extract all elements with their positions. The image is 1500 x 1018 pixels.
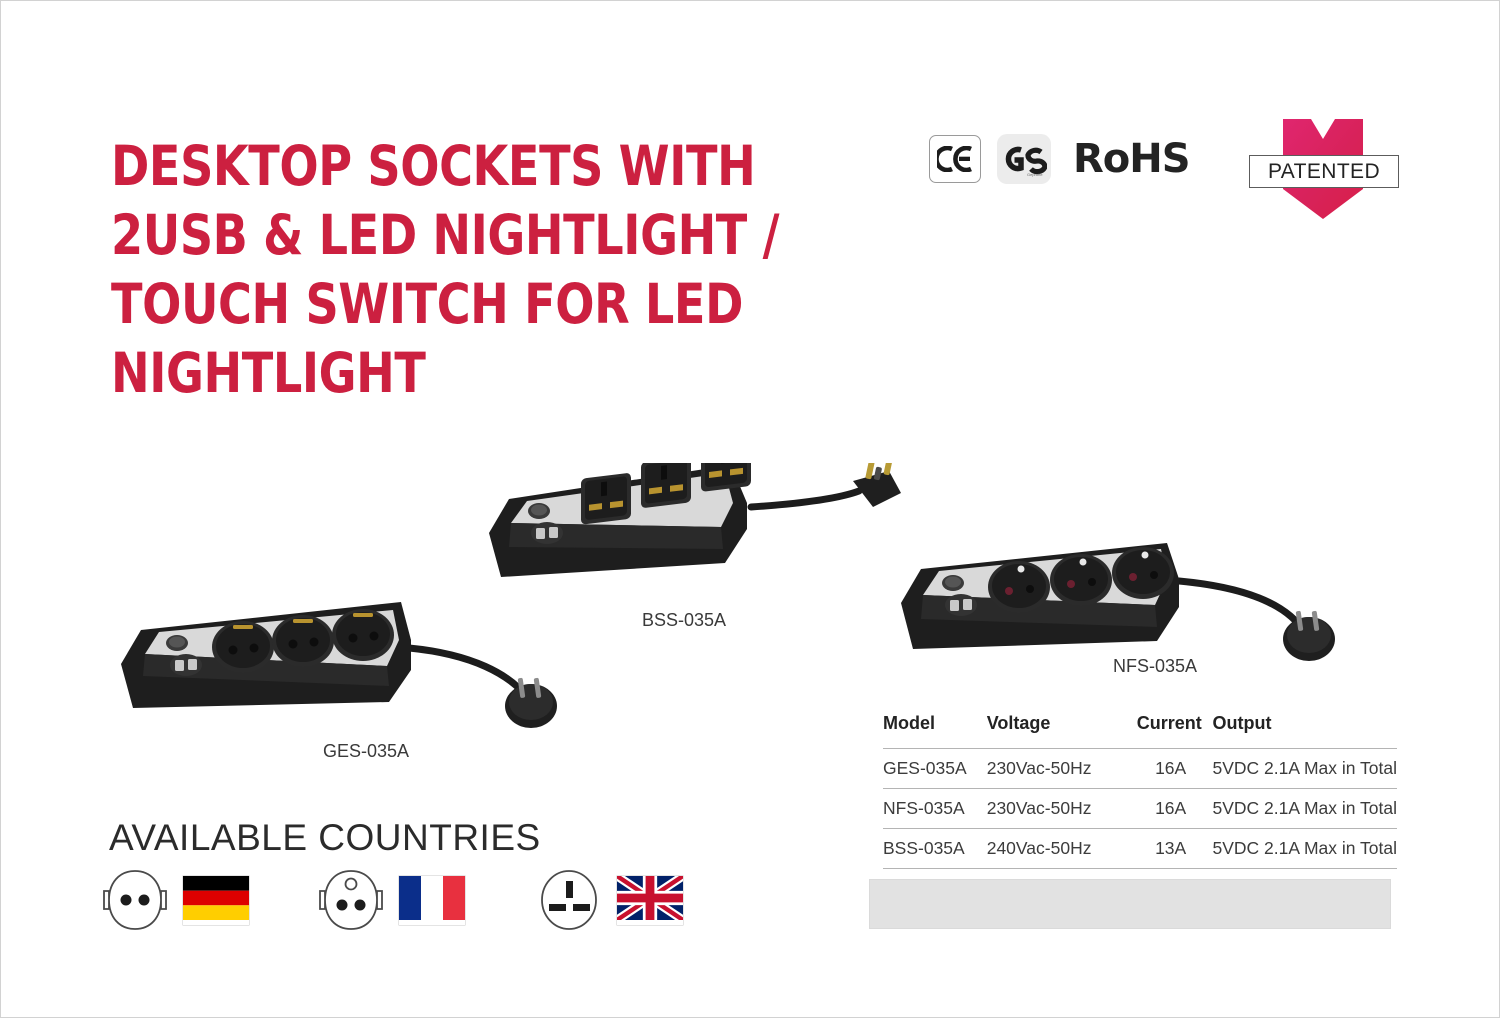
ce-glyph bbox=[937, 146, 973, 172]
patented-badge: PATENTED bbox=[1249, 115, 1409, 223]
product-label-bss: BSS-035A bbox=[642, 610, 726, 631]
notes-bar bbox=[869, 879, 1391, 929]
rohs-label: RoHS bbox=[1073, 136, 1190, 182]
uk-socket-icon bbox=[535, 867, 603, 933]
table-header-row: Model Voltage Current Output bbox=[883, 713, 1397, 749]
patented-label: PATENTED bbox=[1249, 155, 1399, 188]
cell-model: GES-035A bbox=[883, 749, 987, 789]
country-item-uk bbox=[535, 867, 683, 933]
cell-voltage: 230Vac-50Hz bbox=[987, 789, 1129, 829]
french-socket-icon bbox=[317, 867, 385, 933]
col-current: Current bbox=[1129, 713, 1213, 749]
col-voltage: Voltage bbox=[987, 713, 1129, 749]
certification-badges: Geprufte RoHS bbox=[929, 134, 1190, 184]
table-row: BSS-035A 240Vac-50Hz 13A 5VDC 2.1A Max i… bbox=[883, 829, 1397, 869]
col-model: Model bbox=[883, 713, 987, 749]
gs-icon: Geprufte bbox=[997, 134, 1051, 184]
col-output: Output bbox=[1213, 713, 1398, 749]
product-label-nfs: NFS-035A bbox=[1113, 656, 1197, 677]
cell-current: 16A bbox=[1129, 789, 1213, 829]
page-title: DESKTOP SOCKETS WITH 2USB & LED NIGHTLIG… bbox=[111, 132, 808, 408]
cell-voltage: 240Vac-50Hz bbox=[987, 829, 1129, 869]
specification-table: Model Voltage Current Output GES-035A 23… bbox=[883, 713, 1397, 869]
cell-voltage: 230Vac-50Hz bbox=[987, 749, 1129, 789]
ges-socket-strip bbox=[111, 596, 571, 741]
available-countries-heading: AVAILABLE COUNTRIES bbox=[109, 817, 541, 859]
cell-current: 13A bbox=[1129, 829, 1213, 869]
schuko-socket-icon bbox=[101, 867, 169, 933]
cell-output: 5VDC 2.1A Max in Total bbox=[1213, 749, 1398, 789]
product-image-nfs: NFS-035A bbox=[891, 541, 1361, 686]
cell-model: NFS-035A bbox=[883, 789, 987, 829]
france-flag bbox=[399, 876, 465, 925]
cell-output: 5VDC 2.1A Max in Total bbox=[1213, 829, 1398, 869]
product-image-bss: BSS-035A bbox=[481, 463, 941, 603]
available-countries-list bbox=[101, 867, 683, 933]
product-label-ges: GES-035A bbox=[323, 741, 409, 762]
datasheet-page: DESKTOP SOCKETS WITH 2USB & LED NIGHTLIG… bbox=[0, 0, 1500, 1018]
germany-flag bbox=[183, 876, 249, 925]
uk-plug-icon bbox=[853, 463, 901, 507]
product-image-ges: GES-035A bbox=[111, 596, 571, 746]
cell-output: 5VDC 2.1A Max in Total bbox=[1213, 789, 1398, 829]
ce-icon bbox=[929, 135, 981, 183]
table-row: NFS-035A 230Vac-50Hz 16A 5VDC 2.1A Max i… bbox=[883, 789, 1397, 829]
bss-socket-strip bbox=[481, 463, 941, 598]
cell-model: BSS-035A bbox=[883, 829, 987, 869]
gs-glyph: Geprufte bbox=[1001, 139, 1047, 179]
uk-flag bbox=[617, 876, 683, 925]
cell-current: 16A bbox=[1129, 749, 1213, 789]
table-row: GES-035A 230Vac-50Hz 16A 5VDC 2.1A Max i… bbox=[883, 749, 1397, 789]
country-item-germany bbox=[101, 867, 249, 933]
country-item-france bbox=[317, 867, 465, 933]
svg-text:Geprufte: Geprufte bbox=[1027, 172, 1043, 177]
